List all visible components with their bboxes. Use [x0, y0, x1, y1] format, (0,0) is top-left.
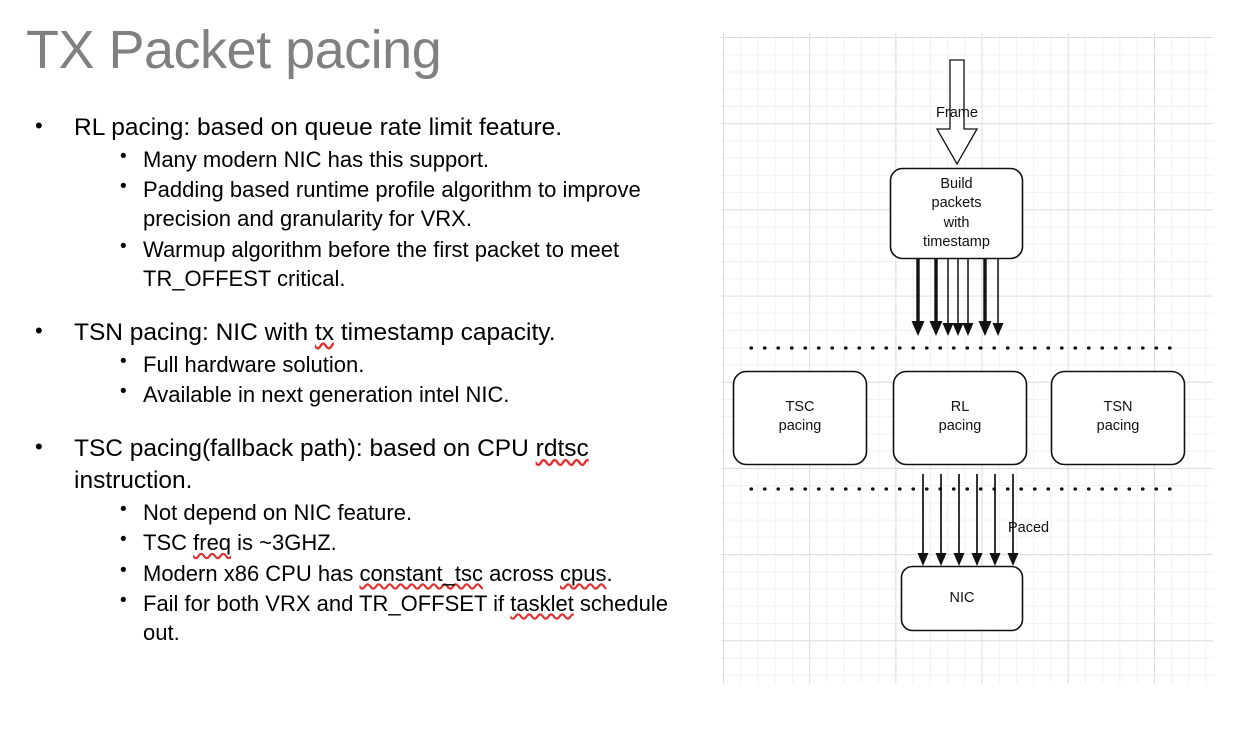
bullet-text: Modern x86 CPU has constant_tsc across c…: [143, 561, 613, 586]
bullet-glyph: •: [35, 432, 43, 462]
bullet-text: Fail for both VRX and TR_OFFSET if taskl…: [143, 591, 668, 645]
bullet-group-tsc: • TSC pacing(fallback path): based on CP…: [26, 433, 706, 647]
bullet-glyph: •: [35, 316, 43, 346]
bullet-glyph: •: [120, 558, 127, 585]
bullet-group-tsn: • TSN pacing: NIC with tx timestamp capa…: [26, 317, 706, 409]
pacing-box-tsn: [1052, 372, 1185, 465]
unpaced-arrow-group: [912, 258, 1004, 336]
bullet-text: TSC freq is ~3GHZ.: [143, 530, 337, 555]
nic-box: [902, 567, 1023, 631]
bullet-glyph: •: [35, 111, 43, 141]
bullet-text: TSC pacing(fallback path): based on CPU …: [74, 435, 589, 494]
packet-pacing-diagram: Frame Build packets with timestamp TSC p…: [721, 33, 1213, 684]
bullet-level1: • TSC pacing(fallback path): based on CP…: [26, 433, 706, 497]
bullet-glyph: •: [120, 144, 127, 171]
bullet-glyph: •: [120, 234, 127, 261]
pacing-box-tsc: [734, 372, 867, 465]
bullet-list: • RL pacing: based on queue rate limit f…: [26, 112, 706, 649]
bullet-glyph: •: [120, 349, 127, 376]
build-packets-box: [891, 169, 1023, 259]
bullet-glyph: •: [120, 174, 127, 201]
slide-canvas: TX Packet pacing • RL pacing: based on q…: [0, 0, 1253, 735]
bullet-level2: • Modern x86 CPU has constant_tsc across…: [26, 559, 706, 588]
pacing-box-rl: [894, 372, 1027, 465]
bullet-text: Many modern NIC has this support.: [143, 147, 489, 172]
diagram-shapes: [721, 33, 1213, 684]
bullet-group-rl: • RL pacing: based on queue rate limit f…: [26, 112, 706, 293]
bullet-text: Padding based runtime profile algorithm …: [143, 177, 641, 231]
bullet-level2: • Not depend on NIC feature.: [26, 498, 706, 527]
bullet-glyph: •: [120, 527, 127, 554]
bullet-level2: • Full hardware solution.: [26, 350, 706, 379]
bullet-glyph: •: [120, 588, 127, 615]
bullet-level2: • Warmup algorithm before the first pack…: [26, 235, 706, 294]
bullet-text: Available in next generation intel NIC.: [143, 382, 509, 407]
page-title: TX Packet pacing: [26, 22, 686, 79]
bullet-level1: • TSN pacing: NIC with tx timestamp capa…: [26, 317, 706, 349]
bullet-level2: • TSC freq is ~3GHZ.: [26, 528, 706, 557]
bullet-text: Not depend on NIC feature.: [143, 500, 412, 525]
bullet-glyph: •: [120, 379, 127, 406]
frame-block-arrow-icon: [937, 60, 977, 164]
bullet-text: Warmup algorithm before the first packet…: [143, 237, 619, 291]
bullet-level1: • RL pacing: based on queue rate limit f…: [26, 112, 706, 144]
bullet-level2: • Fail for both VRX and TR_OFFSET if tas…: [26, 589, 706, 648]
bullet-text: Full hardware solution.: [143, 352, 364, 377]
bullet-level2: • Padding based runtime profile algorith…: [26, 175, 706, 234]
bullet-level2: • Many modern NIC has this support.: [26, 145, 706, 174]
bullet-level2: • Available in next generation intel NIC…: [26, 380, 706, 409]
bullet-glyph: •: [120, 497, 127, 524]
bullet-text: RL pacing: based on queue rate limit fea…: [74, 114, 562, 141]
bullet-text: TSN pacing: NIC with tx timestamp capaci…: [74, 319, 556, 346]
